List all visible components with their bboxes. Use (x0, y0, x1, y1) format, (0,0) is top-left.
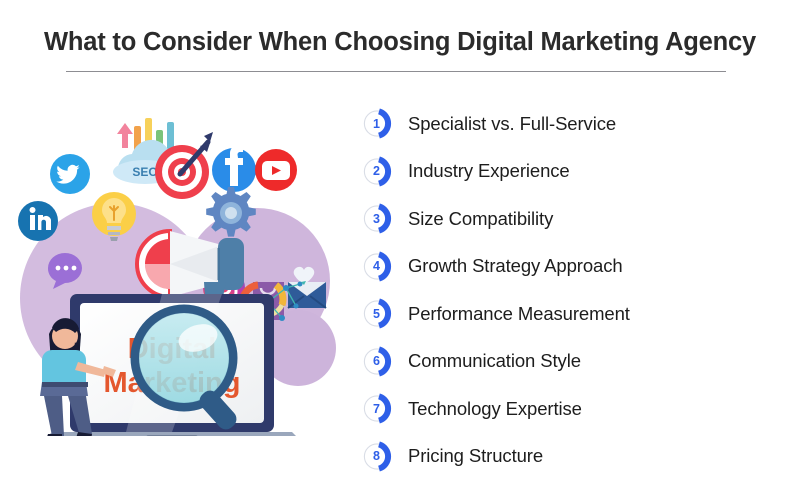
considerations-list: 1 Specialist vs. Full-Service 2 Industry… (363, 100, 793, 480)
list-item[interactable]: 8 Pricing Structure (363, 433, 793, 481)
number-badge-value: 4 (363, 251, 390, 282)
list-item-label: Communication Style (408, 350, 581, 372)
number-badge: 6 (363, 346, 394, 377)
list-item[interactable]: 1 Specialist vs. Full-Service (363, 100, 793, 148)
list-item-label: Industry Experience (408, 160, 570, 182)
number-badge: 7 (363, 393, 394, 424)
page-title: What to Consider When Choosing Digital M… (0, 28, 800, 57)
list-item[interactable]: 7 Technology Expertise (363, 385, 793, 433)
title-divider (66, 71, 726, 72)
number-badge: 3 (363, 203, 394, 234)
number-badge: 1 (363, 108, 394, 139)
gear-icon (206, 187, 256, 237)
number-badge-value: 5 (363, 298, 390, 329)
facebook-icon (212, 145, 256, 192)
list-item-label: Technology Expertise (408, 398, 582, 420)
list-item-label: Specialist vs. Full-Service (408, 113, 616, 135)
digital-marketing-illustration: SEO (12, 96, 362, 436)
list-item[interactable]: 3 Size Compatibility (363, 195, 793, 243)
list-item[interactable]: 5 Performance Measurement (363, 290, 793, 338)
number-badge: 2 (363, 156, 394, 187)
youtube-icon (255, 149, 297, 191)
list-item-label: Size Compatibility (408, 208, 553, 230)
list-item-label: Performance Measurement (408, 303, 630, 325)
linkedin-icon (18, 201, 58, 241)
list-item[interactable]: 2 Industry Experience (363, 148, 793, 196)
number-badge: 4 (363, 251, 394, 282)
number-badge-value: 6 (363, 346, 390, 377)
number-badge-value: 7 (363, 393, 390, 424)
list-item-label: Growth Strategy Approach (408, 255, 623, 277)
number-badge-value: 2 (363, 156, 390, 187)
number-badge: 5 (363, 298, 394, 329)
list-item[interactable]: 4 Growth Strategy Approach (363, 243, 793, 291)
target-arrow-icon (155, 132, 213, 199)
twitter-icon (50, 154, 90, 194)
number-badge-value: 8 (363, 441, 390, 472)
list-item[interactable]: 6 Communication Style (363, 338, 793, 386)
svg-text:SEO: SEO (132, 165, 157, 179)
number-badge-value: 3 (363, 203, 390, 234)
number-badge: 8 (363, 441, 394, 472)
number-badge-value: 1 (363, 108, 390, 139)
list-item-label: Pricing Structure (408, 445, 543, 467)
infographic-page: What to Consider When Choosing Digital M… (0, 0, 800, 495)
header: What to Consider When Choosing Digital M… (0, 0, 800, 80)
